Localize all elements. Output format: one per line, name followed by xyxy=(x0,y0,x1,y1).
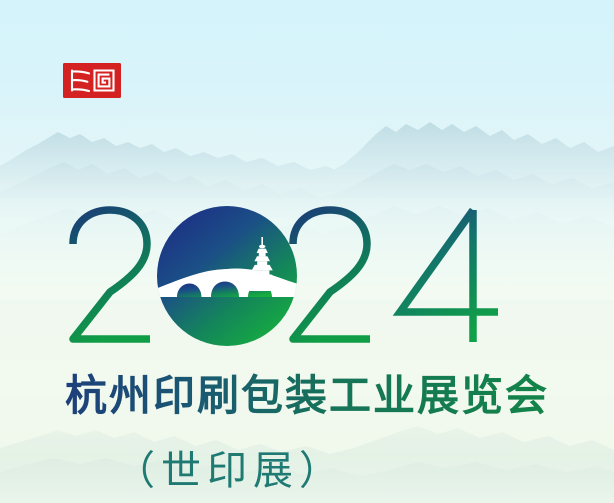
digit-4 xyxy=(400,210,498,342)
headline-block: 杭州印刷包装工业展览会 xyxy=(0,368,614,424)
brand-seal-logo[interactable] xyxy=(63,63,121,98)
digit-0-emblem xyxy=(155,206,305,346)
mountain-layer-far xyxy=(0,108,614,198)
subtitle-text: （世印展） xyxy=(115,449,345,493)
poster-canvas: 杭州印刷包装工业展览会 （世印展） xyxy=(0,0,614,503)
subtitle-block: （世印展） xyxy=(0,440,614,500)
digit-2-first xyxy=(73,210,150,339)
digit-2-second xyxy=(293,210,370,339)
year-2024-lockup xyxy=(0,196,614,356)
headline-text: 杭州印刷包装工业展览会 xyxy=(65,372,549,419)
